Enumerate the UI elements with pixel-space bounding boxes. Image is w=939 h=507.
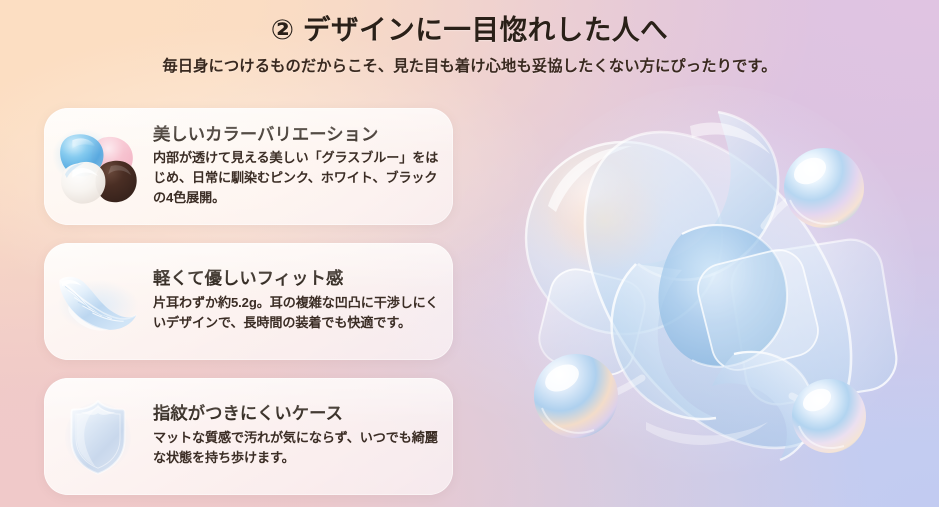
feature-card-body: マットな質感で汚れが気にならず、いつでも綺麗な状態を持ち歩けます。 (153, 428, 439, 467)
page-title: ② デザインに一目惚れした人へ (0, 14, 939, 46)
feature-card-list: 美しいカラーバリエーション 内部が透けて見える美しい「グラスブルー」をはじめ、日… (44, 108, 453, 495)
feature-card-text: 軽くて優しいフィット感 片耳わずか約5.2g。耳の複雑な凹凸に干渉しにくいデザイ… (152, 268, 453, 334)
feature-card[interactable]: 軽くて優しいフィット感 片耳わずか約5.2g。耳の複雑な凹凸に干渉しにくいデザイ… (44, 243, 453, 360)
slide-canvas: ② デザインに一目惚れした人へ 毎日身につけるものだからこそ、見た目も着け心地も… (0, 0, 939, 507)
feature-card-heading: 指紋がつきにくいケース (153, 403, 439, 424)
feature-card[interactable]: 美しいカラーバリエーション 内部が透けて見える美しい「グラスブルー」をはじめ、日… (44, 108, 453, 225)
shield-icon (44, 378, 152, 495)
feature-card-body: 片耳わずか約5.2g。耳の複雑な凹凸に干渉しにくいデザインで、長時間の装着でも快… (153, 293, 439, 332)
feature-card-body: 内部が透けて見える美しい「グラスブルー」をはじめ、日常に馴染むピンク、ホワイト、… (153, 148, 439, 207)
header: ② デザインに一目惚れした人へ 毎日身につけるものだからこそ、見た目も着け心地も… (0, 0, 939, 77)
feature-card-text: 美しいカラーバリエーション 内部が透けて見える美しい「グラスブルー」をはじめ、日… (152, 124, 453, 210)
feature-card-heading: 美しいカラーバリエーション (153, 124, 439, 145)
feature-card-heading: 軽くて優しいフィット感 (153, 268, 439, 289)
color-variation-icon (44, 108, 152, 225)
feature-card-text: 指紋がつきにくいケース マットな質感で汚れが気にならず、いつでも綺麗な状態を持ち… (152, 403, 453, 469)
abstract-glass-sculpture (486, 78, 936, 498)
feather-icon (44, 243, 152, 360)
feature-card[interactable]: 指紋がつきにくいケース マットな質感で汚れが気にならず、いつでも綺麗な状態を持ち… (44, 378, 453, 495)
page-subtitle: 毎日身につけるものだからこそ、見た目も着け心地も妥協したくない方にぴったりです。 (0, 57, 939, 76)
